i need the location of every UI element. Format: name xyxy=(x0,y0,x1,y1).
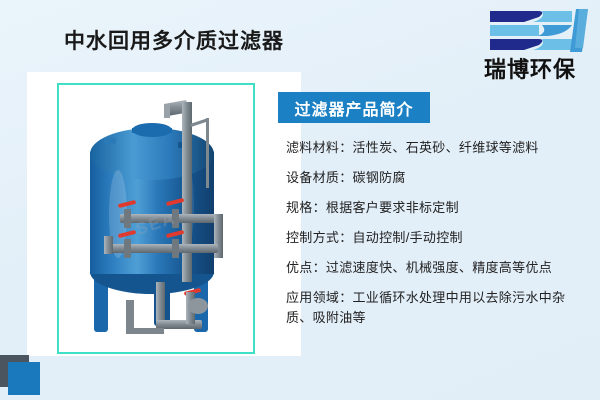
ruibo-wave-logo-mark-icon xyxy=(476,8,588,54)
product-photo-frame: SEA xyxy=(57,83,255,354)
logo-text: 瑞博环保 xyxy=(468,52,592,84)
multi-media-filter-tank-photo xyxy=(68,94,244,344)
spec-item-specification: 规格：根据客户要求非标定制 xyxy=(286,198,586,218)
brand-logo: 瑞博环保 xyxy=(468,6,592,86)
spec-item-advantages: 优点：过滤速度快、机械强度、精度高等优点 xyxy=(286,258,586,278)
spec-item-application: 应用领域：工业循环水处理中用以去除污水中杂质、吸附油等 xyxy=(286,288,586,328)
spec-list: 滤料材料：活性炭、石英砂、纤维球等滤料 设备材质：碳钢防腐 规格：根据客户要求非… xyxy=(286,138,586,338)
spec-panel-header: 过滤器产品简介 xyxy=(278,92,430,123)
spec-item-material: 设备材质：碳钢防腐 xyxy=(286,168,586,188)
page-title: 中水回用多介质过滤器 xyxy=(64,25,284,55)
spec-item-filter-media: 滤料材料：活性炭、石英砂、纤维球等滤料 xyxy=(286,138,586,158)
spec-item-control-mode: 控制方式：自动控制/手动控制 xyxy=(286,228,586,248)
decor-square-blue xyxy=(8,362,40,395)
slide-canvas: 中水回用多介质过滤器 瑞博环保 xyxy=(0,0,600,400)
